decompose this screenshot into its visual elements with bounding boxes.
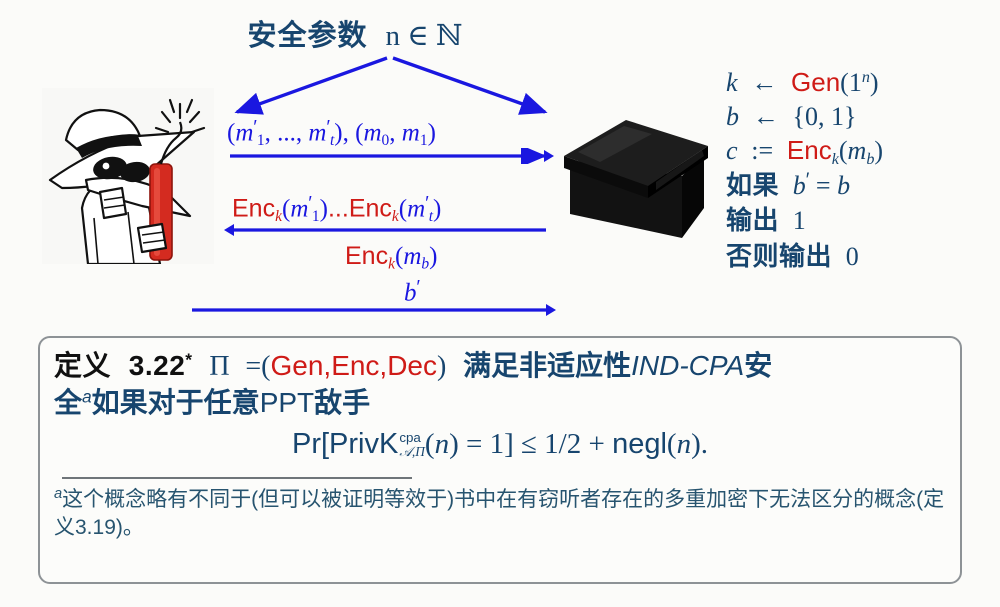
- message-1-arrow: [228, 148, 558, 164]
- message-2-arrow: [220, 222, 550, 238]
- challenger-black-box-image: [556, 98, 712, 246]
- arrow-to-challenger: [393, 58, 545, 112]
- definition-formula: Pr[PrivKcpa𝒜,Π(n) = 1] ≤ 1/2 + negl(n).: [54, 426, 946, 464]
- slide-canvas: 安全参数 n ∈ ℕ: [0, 0, 1000, 607]
- challenger-output-else: 否则输出 0: [726, 240, 998, 276]
- challenger-step-bitchoice: b ← {0, 1}: [726, 100, 998, 134]
- adversary-spy-image: [42, 88, 214, 264]
- black-box-icon: [556, 98, 712, 246]
- footnote-divider: [62, 477, 412, 479]
- message-4-arrow: [190, 302, 560, 318]
- formula-sup-sub: cpa𝒜,Π: [399, 431, 425, 459]
- definition-close-paren: ): [437, 351, 446, 382]
- definition-line2-cjk3: 敌手: [314, 387, 370, 418]
- security-parameter-arrows: [215, 52, 565, 124]
- footnote-marker: a: [54, 486, 62, 502]
- message-3-label: Enck(mb): [345, 244, 437, 272]
- message-1-label: (m′1, ..., m′t), (m0, m1): [227, 118, 436, 149]
- definition-footnote-marker: a: [82, 387, 92, 407]
- arrow-to-adversary: [237, 58, 387, 112]
- message-2-label: Enck(m′1)...Enck(m′t): [232, 194, 441, 225]
- challenger-output-then: 输出 1: [726, 204, 998, 240]
- challenger-steps: k ← Gen(1n) b ← {0, 1} c := Enck(mb) 如果 …: [726, 66, 998, 276]
- formula-tail: (n) = 1] ≤ 1/2 + negl(n).: [425, 428, 708, 460]
- spy-cartoon-icon: [42, 88, 214, 264]
- definition-number: 3.22: [129, 350, 186, 381]
- page-title: 安全参数 n ∈ ℕ: [205, 12, 505, 54]
- title-cjk: 安全参数: [247, 20, 367, 52]
- definition-box: 定义 3.22* Π =(Gen,Enc,Dec) 满足非适应性IND-CPA安…: [38, 336, 962, 584]
- footnote-text: a这个概念略有不同于(但可以被证明等效于)书中在有窃听者存在的多重加密下无法区分…: [54, 485, 946, 541]
- title-math: n ∈ ℕ: [386, 20, 463, 52]
- definition-line2-cjk2: 如果对于任意: [92, 387, 260, 418]
- definition-scheme: Gen,Enc,Dec: [270, 350, 437, 381]
- footnote-body: 这个概念略有不同于(但可以被证明等效于)书中在有窃听者存在的多重加密下无法区分的…: [54, 489, 944, 539]
- definition-equals: =(: [245, 351, 270, 382]
- definition-line2-cjk: 全: [54, 387, 82, 418]
- definition-ppt: PPT: [260, 387, 314, 418]
- definition-tail-cjk2: 安: [744, 350, 772, 381]
- definition-line-2: 全a如果对于任意PPT敌手: [54, 385, 946, 421]
- challenger-step-encrypt: c := Enck(mb): [726, 134, 998, 168]
- definition-pi: Π: [209, 351, 229, 382]
- definition-label: 定义: [54, 350, 111, 381]
- definition-body: 定义 3.22* Π =(Gen,Enc,Dec) 满足非适应性IND-CPA安…: [54, 348, 946, 541]
- definition-star: *: [185, 349, 192, 369]
- definition-ind-cpa: IND-CPA: [631, 350, 744, 381]
- definition-tail-cjk: 满足非适应性: [463, 350, 631, 381]
- challenger-output-if: 如果 b′ = b: [726, 168, 998, 204]
- formula-pr: Pr[PrivK: [292, 428, 398, 460]
- definition-line-1: 定义 3.22* Π =(Gen,Enc,Dec) 满足非适应性IND-CPA安: [54, 348, 946, 385]
- challenger-step-keygen: k ← Gen(1n): [726, 66, 998, 100]
